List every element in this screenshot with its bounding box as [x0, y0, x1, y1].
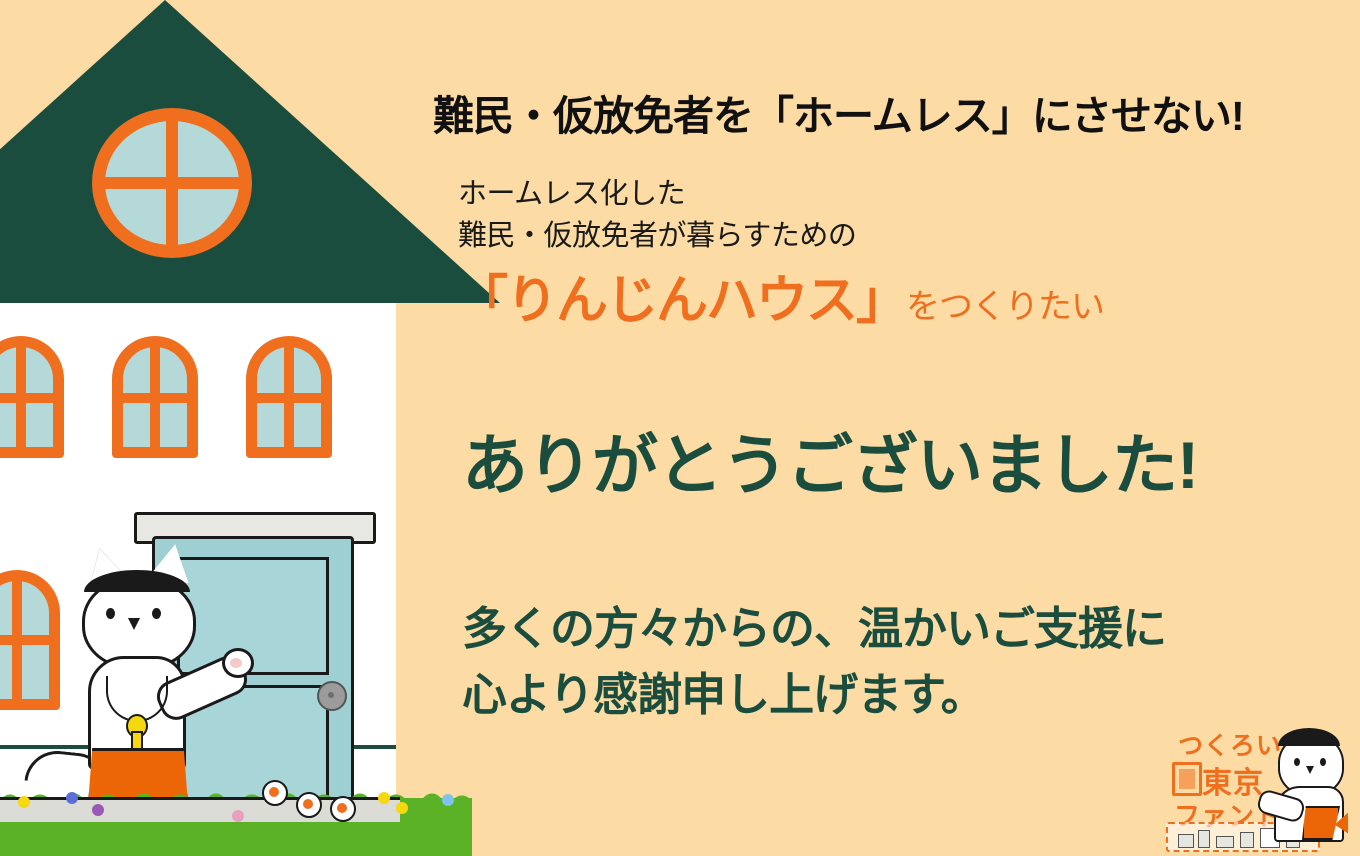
logo-cat-icon	[1264, 722, 1352, 842]
logo-cat-head-marking	[1278, 728, 1340, 746]
skyline-building	[1178, 834, 1194, 848]
poster-headline: 難民・仮放免者を「ホームレス」にさせない!	[433, 82, 1313, 142]
organization-logo: つくろい 東京 ファンド	[1160, 716, 1360, 856]
poster-subtitle-line-2: 難民・仮放免者が暮らすための	[458, 212, 856, 254]
skyline-building	[1198, 830, 1210, 848]
thread-spool-icon	[1172, 762, 1202, 796]
thanks-headline: ありがとうございました!	[462, 412, 1198, 508]
poster-subtitle-line-1: ホームレス化した	[458, 170, 685, 212]
gratitude-message-line-2: 心より感謝申し上げます。	[462, 658, 985, 723]
skyline-building	[1240, 832, 1254, 848]
project-name-suffix: をつくりたい	[906, 288, 1104, 326]
logo-cat-eye-left	[1294, 758, 1300, 766]
gratitude-message-line-1: 多くの方々からの、温かいご支援に	[462, 592, 1166, 657]
poster-text-block: 難民・仮放免者を「ホームレス」にさせない! ホームレス化した 難民・仮放免者が暮…	[0, 0, 1360, 856]
project-title-line: 「りんじんハウス」をつくりたい	[456, 258, 1104, 333]
project-name: 「りんじんハウス」	[456, 272, 906, 330]
skyline-building	[1216, 836, 1234, 848]
logo-cat-eye-right	[1320, 758, 1326, 766]
poster-root: 難民・仮放免者を「ホームレス」にさせない! ホームレス化した 難民・仮放免者が暮…	[0, 0, 1360, 856]
